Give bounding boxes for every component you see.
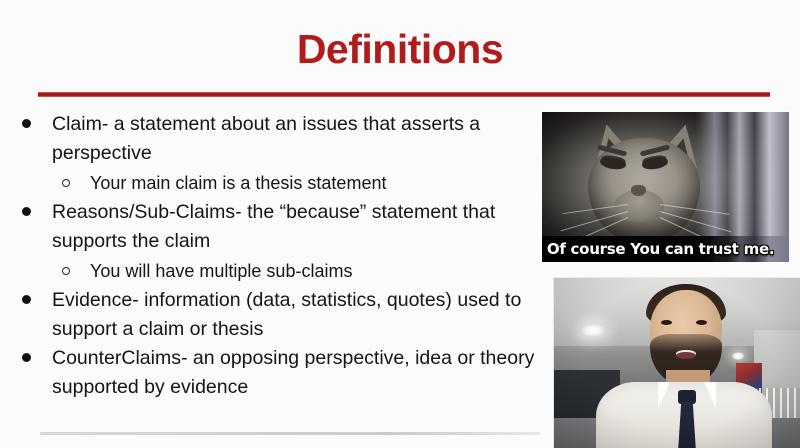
list-item: Evidence- information (data, statistics,… (0, 286, 536, 344)
presenter-eye-right (696, 320, 707, 325)
filled-bullet-icon (22, 295, 31, 304)
title-divider-rule (38, 92, 770, 97)
list-item-label: Claim- a statement about an issues that … (52, 110, 536, 168)
filled-bullet-icon (22, 119, 31, 128)
list-item-label: CounterClaims- an opposing perspective, … (52, 344, 536, 402)
list-item: Claim- a statement about an issues that … (0, 110, 536, 168)
list-item: Your main claim is a thesis statement (0, 168, 536, 198)
presenter-tie-knot (678, 390, 696, 404)
filled-bullet-icon (22, 207, 31, 216)
ceiling-light (581, 324, 605, 337)
list-item: You will have multiple sub-claims (0, 256, 536, 286)
list-item: Reasons/Sub-Claims- the “because” statem… (0, 198, 536, 256)
hollow-bullet-icon (62, 267, 70, 275)
ceiling-light-secondary (732, 352, 744, 360)
cat-nose (631, 185, 646, 196)
list-item-label: Evidence- information (data, statistics,… (52, 286, 536, 344)
webcam-video-panel[interactable] (553, 277, 800, 448)
presenter-eye-left (661, 320, 672, 325)
presenter-mouth (676, 350, 696, 359)
list-item-label: Reasons/Sub-Claims- the “because” statem… (52, 198, 536, 256)
hollow-bullet-icon (62, 179, 70, 187)
list-item-label: Your main claim is a thesis statement (90, 168, 536, 198)
list-item-label: You will have multiple sub-claims (90, 256, 536, 286)
presenter-collar-left (658, 382, 670, 408)
presenter-collar-right (704, 382, 716, 408)
presentation-slide: Definitions Claim- a statement about an … (0, 0, 800, 448)
cat-caption-bar: Of course You can trust me. (542, 236, 789, 262)
filled-bullet-icon (22, 353, 31, 362)
webcam-scene-background (554, 278, 800, 448)
cat-meme-image: Of course You can trust me. (541, 111, 790, 263)
footer-divider-rule (40, 432, 540, 435)
list-item: CounterClaims- an opposing perspective, … (0, 344, 536, 402)
page-title: Definitions (0, 29, 800, 70)
cat-caption-text: Of course You can trust me. (542, 240, 774, 258)
definitions-bullet-list: Claim- a statement about an issues that … (0, 110, 536, 402)
